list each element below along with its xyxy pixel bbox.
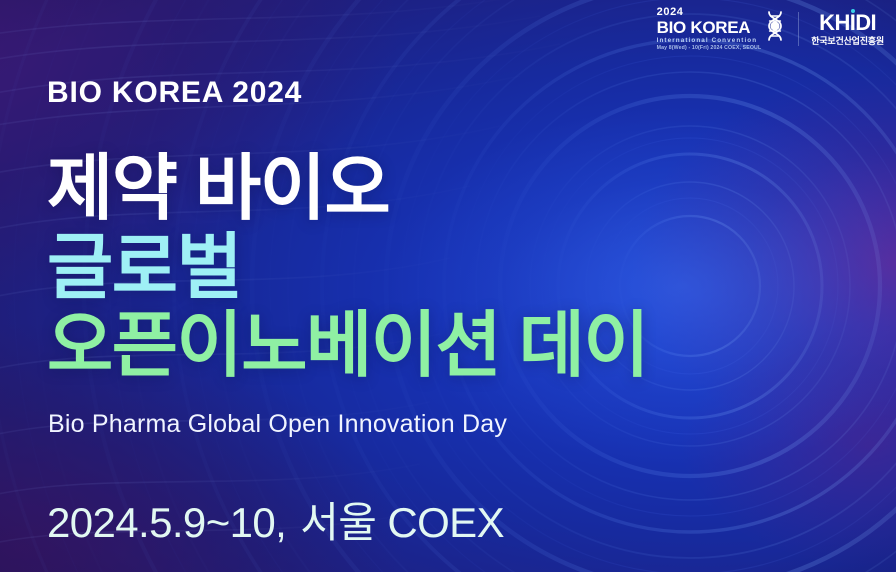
headline-block: 제약 바이오 글로벌 오픈이노베이션 데이 [47,154,648,390]
english-subtitle: Bio Pharma Global Open Innovation Day [48,410,507,439]
event-date: 2024.5.9~10, [47,499,286,546]
date-venue-line: 2024.5.9~10,서울 COEX [47,489,504,550]
bio-korea-promo-banner: 2024 BIO KOREA International Convention … [0,0,896,572]
dna-helix-icon [764,10,786,48]
headline-line-1: 제약 바이오 [47,154,648,225]
logo-bar: 2024 BIO KOREA International Convention … [657,7,884,52]
khidi-wordmark-part2: DI [855,12,876,34]
khidi-korean-name: 한국보건산업진흥원 [811,37,884,46]
bio-korea-logo-tagline: International Convention [657,38,758,44]
headline-line-2: 글로벌 [47,233,648,304]
bio-korea-logo-text: 2024 BIO KOREA International Convention … [657,7,762,52]
khidi-wordmark-part1: KH [819,12,850,34]
event-name-eyebrow: BIO KOREA 2024 [47,76,302,110]
banner-content: BIO KOREA 2024 제약 바이오 글로벌 오픈이노베이션 데이 Bio… [47,0,896,572]
khidi-wordmark-dot-char: I [850,12,856,34]
headline-line-3: 오픈이노베이션 데이 [47,311,648,382]
khidi-wordmark: KHIDI [819,12,876,34]
bio-korea-logo-name: BIO KOREA [657,19,751,36]
logo-divider [798,12,799,46]
event-venue: 서울 COEX [300,499,504,546]
khidi-logo: KHIDI 한국보건산업진흥원 [811,12,884,46]
bio-korea-logo-year: 2024 [657,7,684,18]
bio-korea-logo: 2024 BIO KOREA International Convention … [657,7,787,52]
bio-korea-logo-dates: May 8(Wed) - 10(Fri) 2024 COEX, SEOUL [657,46,762,51]
